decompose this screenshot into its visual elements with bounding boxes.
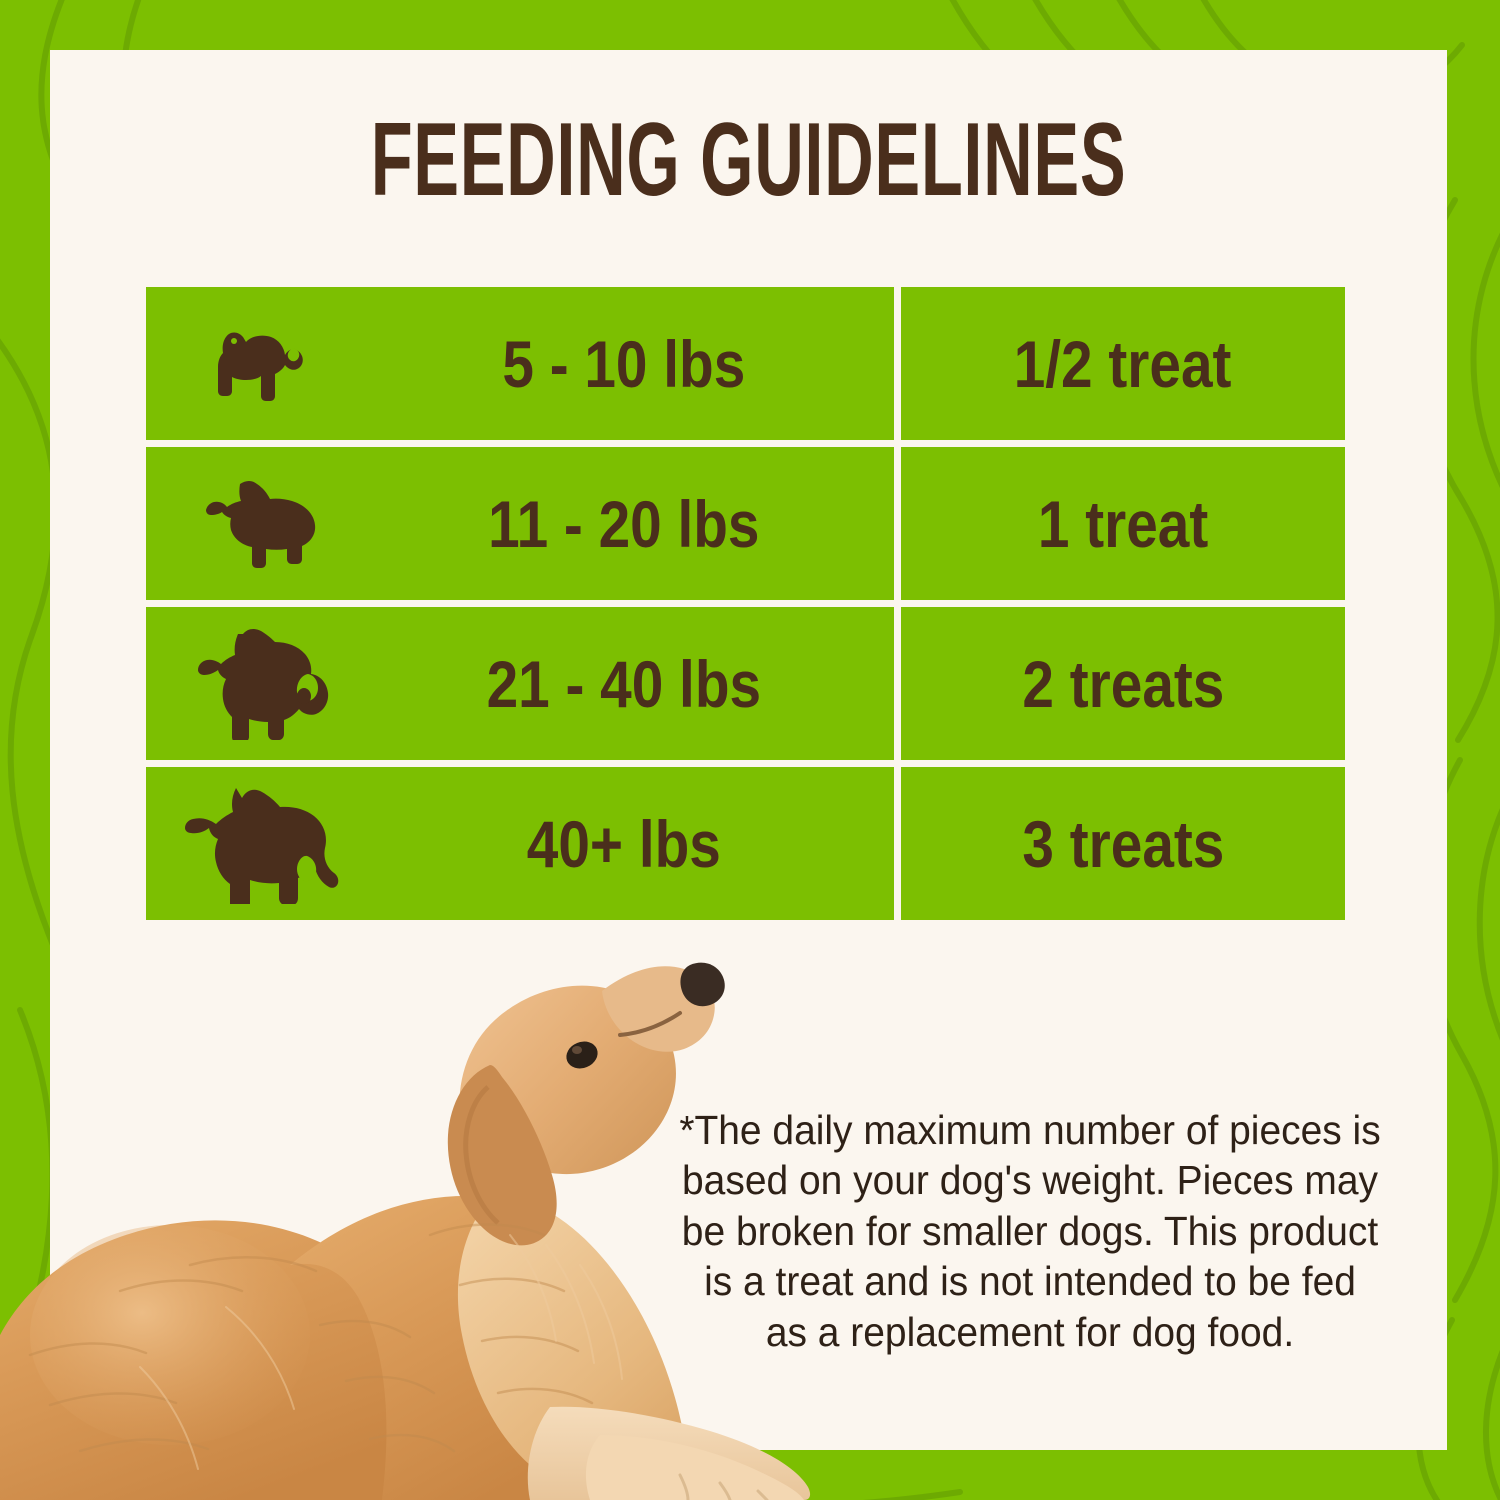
table-row: 5 - 10 lbs 1/2 treat [146, 287, 1345, 440]
treat-cell: 1/2 treat [901, 287, 1345, 440]
large-dog-icon [146, 767, 376, 920]
weight-cell: 5 - 10 lbs [146, 287, 894, 440]
small-dog-icon [146, 287, 376, 440]
feeding-guidelines-table: 5 - 10 lbs 1/2 treat 11 - 20 lbs 1 treat [146, 287, 1345, 920]
treat-label: 1 treat [1038, 491, 1208, 557]
table-row: 21 - 40 lbs 2 treats [146, 607, 1345, 760]
weight-label: 40+ lbs [412, 811, 857, 877]
treat-label: 1/2 treat [1014, 331, 1232, 397]
table-row: 11 - 20 lbs 1 treat [146, 447, 1345, 600]
weight-cell: 21 - 40 lbs [146, 607, 894, 760]
page-title: FEEDING GUIDELINES [287, 108, 1209, 212]
treat-label: 3 treats [1022, 811, 1224, 877]
treat-cell: 3 treats [901, 767, 1345, 920]
weight-cell: 40+ lbs [146, 767, 894, 920]
treat-cell: 2 treats [901, 607, 1345, 760]
weight-label: 21 - 40 lbs [412, 651, 857, 717]
weight-label: 5 - 10 lbs [412, 331, 857, 397]
footnote-text: *The daily maximum number of pieces is b… [679, 1105, 1382, 1357]
medium-dog-icon [146, 607, 376, 760]
corgi-dog-icon [146, 447, 376, 600]
treat-label: 2 treats [1022, 651, 1224, 717]
treat-cell: 1 treat [901, 447, 1345, 600]
weight-label: 11 - 20 lbs [412, 491, 857, 557]
weight-cell: 11 - 20 lbs [146, 447, 894, 600]
table-row: 40+ lbs 3 treats [146, 767, 1345, 920]
